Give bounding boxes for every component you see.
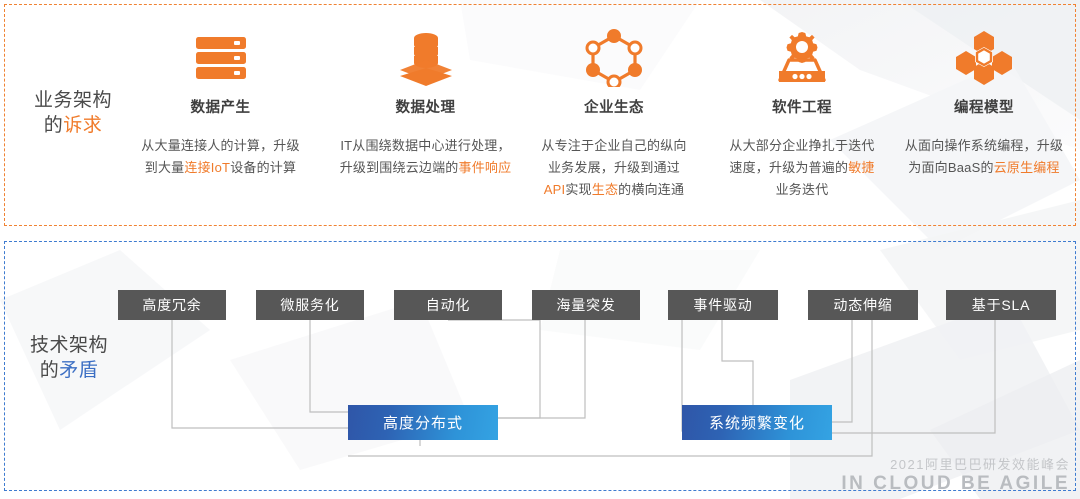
connector-lines (0, 241, 1080, 491)
description-line: 升级到围绕云边端的事件响应 (333, 157, 518, 179)
gear-container-icon (713, 26, 891, 90)
business-column-title: 数据处理 (333, 96, 518, 117)
business-label-line2: 的诉求 (18, 113, 128, 138)
tech-label-accent: 矛盾 (59, 360, 98, 381)
server-stack-icon (133, 26, 308, 90)
tech-label-prefix: 的 (40, 360, 60, 381)
highlight-text: 云原生编程 (994, 160, 1060, 175)
tech-top-box-7[interactable]: 基于SLA (946, 290, 1056, 320)
plain-text: 速度，升级为普遍的 (729, 160, 848, 175)
plain-text: 从大部分企业挣扎于迭代 (729, 138, 874, 153)
business-column-title: 数据产生 (133, 96, 308, 117)
business-column-description: IT从围绕数据中心进行处理，升级到围绕云边端的事件响应 (333, 135, 518, 179)
business-label-line1: 业务架构 (18, 88, 128, 113)
tech-top-box-6[interactable]: 动态伸缩 (808, 290, 918, 320)
business-column-title: 软件工程 (713, 96, 891, 117)
tech-top-box-3[interactable]: 自动化 (394, 290, 502, 320)
tech-top-box-4[interactable]: 海量突发 (532, 290, 640, 320)
highlight-text: 事件响应 (459, 160, 512, 175)
description-line: 业务发展，升级到通过 (525, 157, 703, 179)
business-column-description: 从面向操作系统编程，升级为面向BaaS的云原生编程 (895, 135, 1073, 179)
tech-label-line2: 的矛盾 (14, 358, 124, 383)
plain-text: 升级到围绕云边端的 (340, 160, 459, 175)
description-line: 速度，升级为普遍的敏捷 (713, 157, 891, 179)
plain-text: 从面向操作系统编程，升级 (905, 138, 1063, 153)
tech-top-box-2[interactable]: 微服务化 (256, 290, 364, 320)
tech-top-box-1[interactable]: 高度冗余 (118, 290, 226, 320)
business-column-description: 从大量连接人的计算，升级到大量连接IoT设备的计算 (133, 135, 308, 179)
highlight-text: API (544, 182, 566, 197)
business-column-1: 数据产生从大量连接人的计算，升级到大量连接IoT设备的计算 (133, 26, 308, 179)
technical-architecture-label: 技术架构 的矛盾 (14, 333, 124, 383)
slide-canvas: 业务架构 的诉求 数据产生从大量连接人的计算，升级到大量连接IoT设备的计算数据… (0, 0, 1080, 499)
description-line: 从大量连接人的计算，升级 (133, 135, 308, 157)
plain-text: 实现 (565, 182, 591, 197)
plain-text: 的横向连通 (618, 182, 684, 197)
database-layers-icon (333, 26, 518, 90)
description-line: 到大量连接IoT设备的计算 (133, 157, 308, 179)
plain-text: 业务发展，升级到通过 (548, 160, 680, 175)
tech-top-box-5[interactable]: 事件驱动 (668, 290, 778, 320)
plain-text: IT从围绕数据中心进行处理， (340, 138, 510, 153)
business-column-description: 从专注于企业自己的纵向业务发展，升级到通过API实现生态的横向连通 (525, 135, 703, 201)
business-column-3: 企业生态从专注于企业自己的纵向业务发展，升级到通过API实现生态的横向连通 (525, 26, 703, 201)
business-label-prefix: 的 (44, 115, 64, 136)
business-column-5: 编程模型从面向操作系统编程，升级为面向BaaS的云原生编程 (895, 26, 1073, 179)
highlight-text: 敏捷 (848, 160, 874, 175)
description-line: 业务迭代 (713, 179, 891, 201)
plain-text: 从大量连接人的计算，升级 (141, 138, 299, 153)
description-line: 从面向操作系统编程，升级 (895, 135, 1073, 157)
business-column-description: 从大部分企业挣扎于迭代速度，升级为普遍的敏捷业务迭代 (713, 135, 891, 201)
plain-text: 为面向BaaS的 (908, 160, 993, 175)
hexagon-cluster-icon (895, 26, 1073, 90)
tech-label-line1: 技术架构 (14, 333, 124, 358)
description-line: 从专注于企业自己的纵向 (525, 135, 703, 157)
highlight-text: 连接IoT (184, 160, 230, 175)
description-line: IT从围绕数据中心进行处理， (333, 135, 518, 157)
highlight-text: 生态 (592, 182, 618, 197)
description-line: API实现生态的横向连通 (525, 179, 703, 201)
tech-bottom-box-1[interactable]: 高度分布式 (348, 405, 498, 440)
description-line: 为面向BaaS的云原生编程 (895, 157, 1073, 179)
description-line: 从大部分企业挣扎于迭代 (713, 135, 891, 157)
technical-architecture-diagram: 高度冗余微服务化自动化海量突发事件驱动动态伸缩基于SLA高度分布式系统频繁变化 (0, 241, 1080, 491)
business-column-2: 数据处理IT从围绕数据中心进行处理，升级到围绕云边端的事件响应 (333, 26, 518, 179)
plain-text: 从专注于企业自己的纵向 (541, 138, 686, 153)
business-column-title: 编程模型 (895, 96, 1073, 117)
plain-text: 业务迭代 (776, 182, 829, 197)
tech-bottom-box-2[interactable]: 系统频繁变化 (682, 405, 832, 440)
business-architecture-label: 业务架构 的诉求 (18, 88, 128, 138)
business-label-accent: 诉求 (63, 115, 102, 136)
plain-text: 设备的计算 (230, 160, 296, 175)
hexagon-network-icon (525, 26, 703, 90)
business-column-4: 软件工程从大部分企业挣扎于迭代速度，升级为普遍的敏捷业务迭代 (713, 26, 891, 201)
business-column-title: 企业生态 (525, 96, 703, 117)
plain-text: 到大量 (145, 160, 185, 175)
